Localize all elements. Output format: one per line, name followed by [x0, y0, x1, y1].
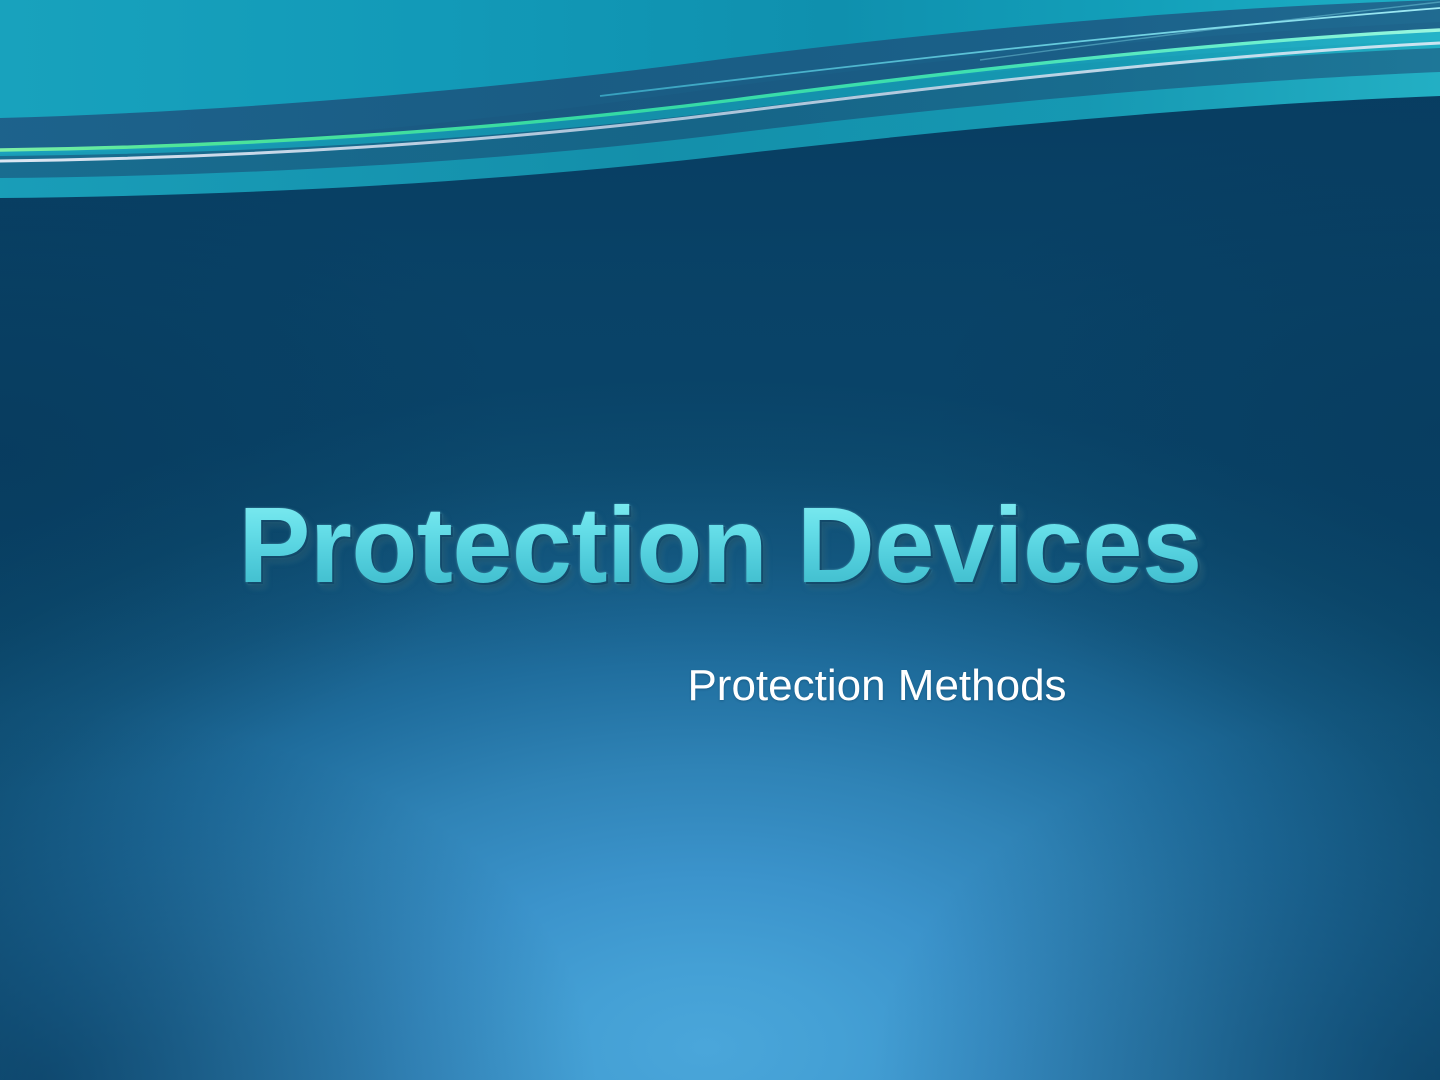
slide-title[interactable]: Protection Devices	[0, 487, 1440, 604]
presentation-slide: Protection Devices Protection Methods	[0, 0, 1440, 1080]
slide-content: Protection Devices Protection Methods	[0, 0, 1440, 1080]
slide-subtitle[interactable]: Protection Methods	[0, 660, 1440, 712]
